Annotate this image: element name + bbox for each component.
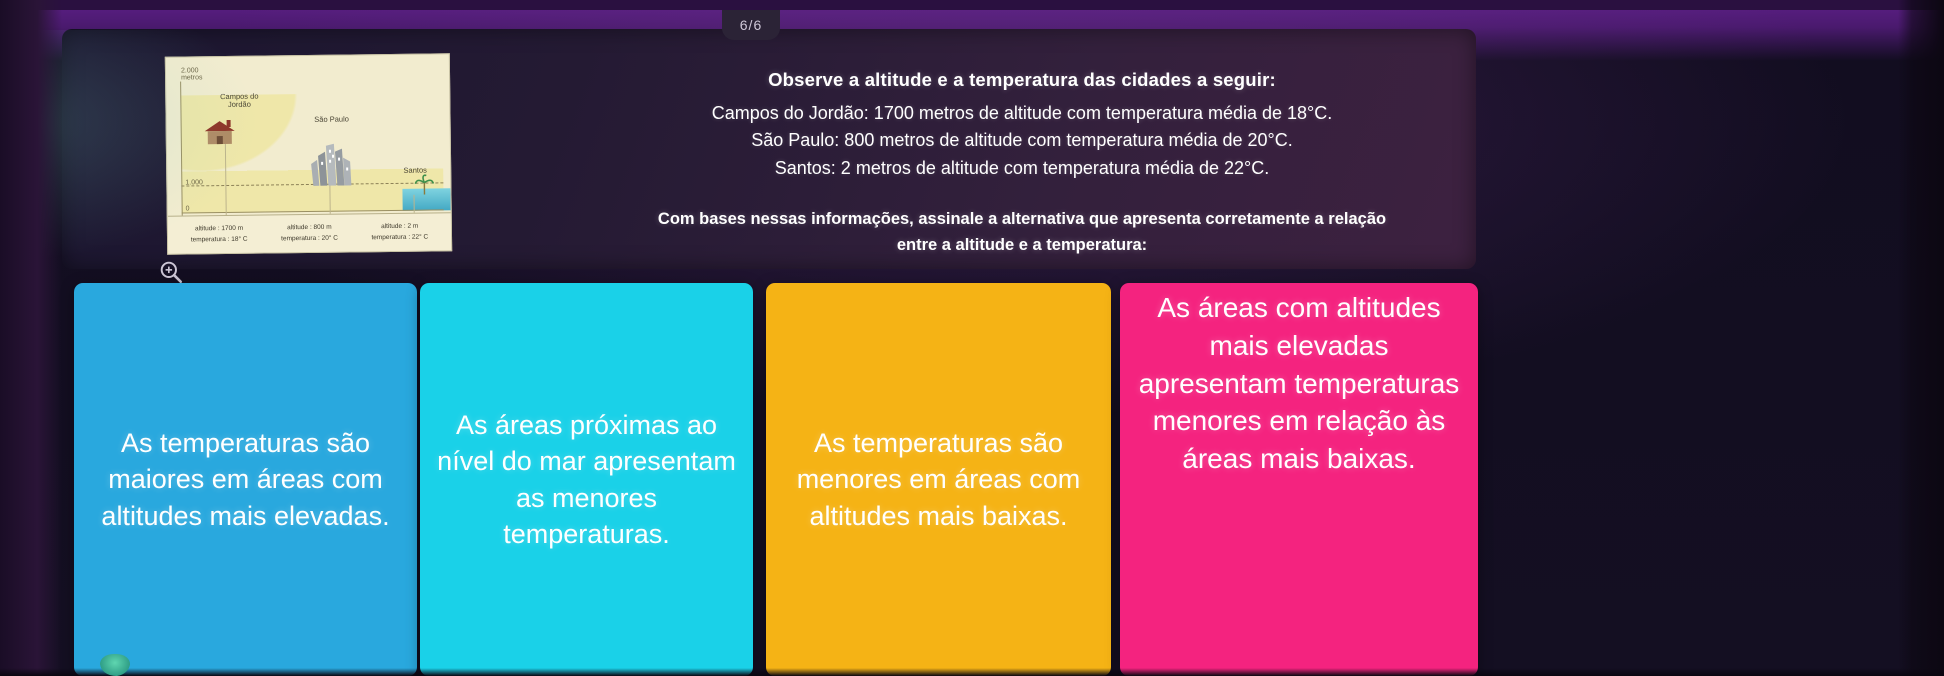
diagram-axis-top-unit: metros — [181, 74, 202, 81]
diagram-label-jordao: Jordão — [204, 100, 274, 109]
diagram-label-sao-paulo: São Paulo — [301, 115, 363, 124]
house-icon — [203, 119, 237, 145]
screen-bezel-right — [1898, 0, 1944, 676]
question-panel: 2.000 metros 1.000 0 Campos do Jordão Sã… — [62, 29, 1476, 269]
question-prompt-line1: Com bases nessas informações, assinale a… — [582, 206, 1462, 232]
screen-bezel-top — [0, 0, 1944, 10]
question-city-line-campos: Campos do Jordão: 1700 metros de altitud… — [582, 100, 1462, 127]
diagram-footer-temp-saopaulo: temperatura : 20° C — [264, 233, 354, 244]
diagram-footer-col-santos: altitude : 2 m temperatura : 22° C — [355, 222, 446, 243]
answer-options-list: As temperaturas são maiores em áreas com… — [62, 283, 1480, 676]
diagram-footer-labels: altitude : 1700 m temperatura : 18° C al… — [168, 212, 451, 253]
city-buildings-icon — [307, 141, 356, 186]
foreground-object — [100, 654, 130, 676]
answer-option-b[interactable]: As áreas próximas ao nível do mar aprese… — [420, 283, 753, 676]
altitude-diagram-image[interactable]: 2.000 metros 1.000 0 Campos do Jordão Sã… — [165, 53, 452, 254]
diagram-footer-temp-campos: temperatura : 18° C — [174, 234, 264, 245]
answer-option-c[interactable]: As temperaturas são menores em áreas com… — [766, 283, 1111, 676]
zoom-in-icon[interactable] — [158, 259, 184, 285]
diagram-gridline-2000 — [180, 84, 442, 87]
diagram-axis-zero-label: 0 — [186, 205, 190, 212]
answer-option-b-label: As áreas próximas ao nível do mar aprese… — [434, 407, 739, 553]
palm-tree-icon — [414, 172, 434, 194]
question-city-line-saopaulo: São Paulo: 800 metros de altitude com te… — [582, 127, 1462, 154]
answer-option-a-label: As temperaturas são maiores em áreas com… — [88, 425, 403, 534]
diagram-footer-col-campos: altitude : 1700 m temperatura : 18° C — [174, 224, 265, 245]
screen-bezel-bottom — [0, 668, 1944, 676]
question-city-line-santos: Santos: 2 metros de altitude com tempera… — [582, 155, 1462, 182]
screen-bezel-left — [0, 0, 62, 676]
answer-option-c-label: As temperaturas são menores em áreas com… — [780, 425, 1097, 534]
diagram-footer-col-saopaulo: altitude : 800 m temperatura : 20° C — [264, 223, 355, 244]
question-prompt: Com bases nessas informações, assinale a… — [582, 206, 1462, 259]
answer-option-d-label: As áreas com altitudes mais elevadas apr… — [1134, 289, 1464, 478]
question-heading: Observe a altitude e a temperatura das c… — [582, 69, 1462, 91]
question-prompt-line2: entre a altitude e a temperatura: — [582, 232, 1462, 258]
diagram-footer-temp-santos: temperatura : 22° C — [355, 232, 445, 243]
page-counter: 6/6 — [722, 10, 780, 40]
answer-option-a[interactable]: As temperaturas são maiores em áreas com… — [74, 283, 417, 676]
answer-option-d[interactable]: As áreas com altitudes mais elevadas apr… — [1120, 283, 1478, 676]
question-text-block: Observe a altitude e a temperatura das c… — [582, 69, 1462, 259]
